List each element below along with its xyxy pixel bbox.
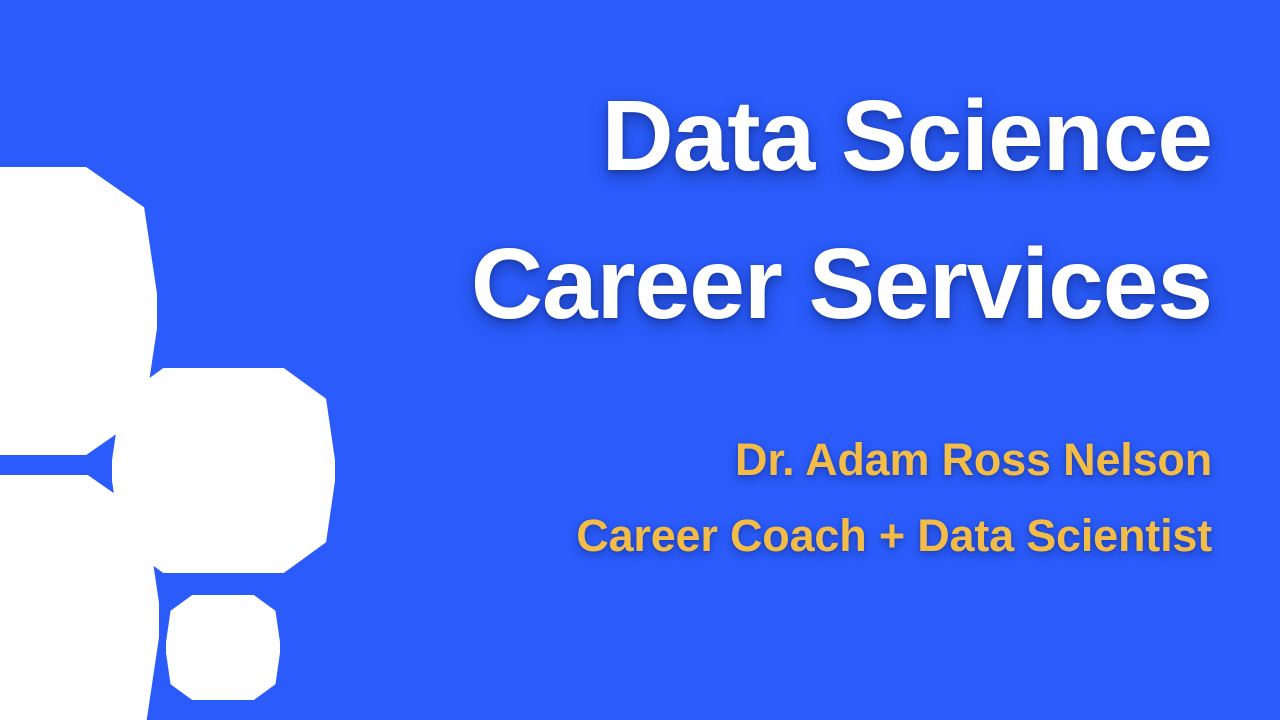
presenter-name: Dr. Adam Ross Nelson [332,422,1212,498]
title-line-2: Career Services [332,210,1212,358]
page-title: Data Science Career Services [332,62,1212,358]
hexagon-medium-icon [112,368,335,573]
text-block: Data Science Career Services Dr. Adam Ro… [332,62,1212,574]
hexagon-large-top-icon [0,167,157,455]
presenter-subtitle: Dr. Adam Ross Nelson Career Coach + Data… [332,422,1212,574]
presenter-role: Career Coach + Data Scientist [332,498,1212,574]
title-slide: Data Science Career Services Dr. Adam Ro… [0,0,1280,720]
hexagon-small-icon [166,595,280,700]
title-line-1: Data Science [332,62,1212,210]
hexagon-large-bottom-icon [0,475,159,720]
